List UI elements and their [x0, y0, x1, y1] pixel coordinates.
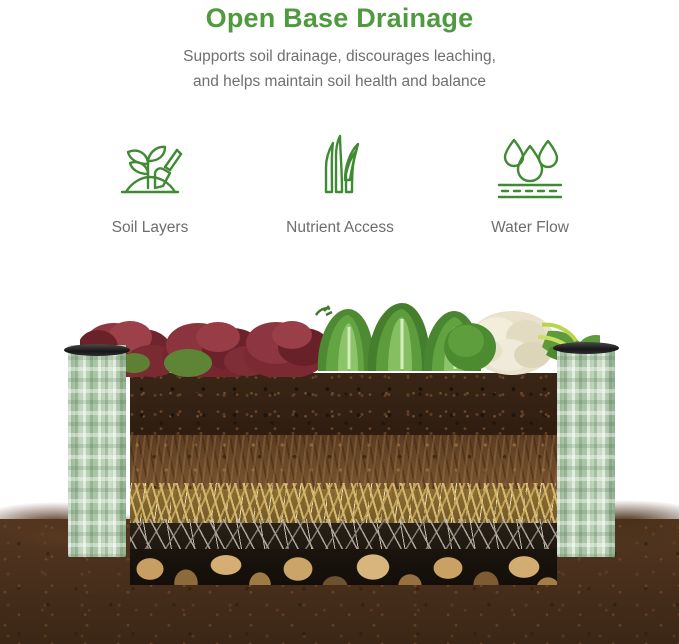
bed-post-right — [557, 345, 615, 557]
bed-rim-right — [553, 342, 619, 354]
plants-illustration — [80, 285, 600, 377]
bed-post-left — [68, 345, 126, 557]
page-title: Open Base Drainage — [0, 0, 679, 36]
soil-cross-section — [130, 373, 557, 585]
feature-label-soil-layers: Soil Layers — [112, 216, 189, 240]
page-subtitle-line1: Supports soil drainage, discourages leac… — [0, 44, 679, 69]
water-droplets-drainage-icon — [493, 132, 567, 202]
layer-topsoil — [130, 373, 557, 435]
feature-label-water-flow: Water Flow — [491, 216, 569, 240]
product-feature-page: Open Base Drainage Supports soil drainag… — [0, 0, 679, 644]
product-image — [0, 285, 679, 644]
bed-rim-left — [64, 344, 130, 356]
feature-item-water-flow: Water Flow — [440, 132, 620, 262]
page-subtitle: Supports soil drainage, discourages leac… — [0, 44, 679, 94]
feature-item-nutrient-access: Nutrient Access — [250, 132, 430, 262]
plant-row — [80, 285, 600, 377]
feature-item-soil-layers: Soil Layers — [60, 132, 240, 262]
feature-list: Soil Layers Nutrient Access — [60, 132, 620, 262]
sprout-shovel-icon — [114, 132, 186, 202]
page-subtitle-line2: and helps maintain soil health and balan… — [0, 69, 679, 94]
feature-label-nutrient-access: Nutrient Access — [286, 216, 394, 240]
grass-blades-icon — [306, 132, 374, 202]
layer-logs — [130, 549, 557, 585]
